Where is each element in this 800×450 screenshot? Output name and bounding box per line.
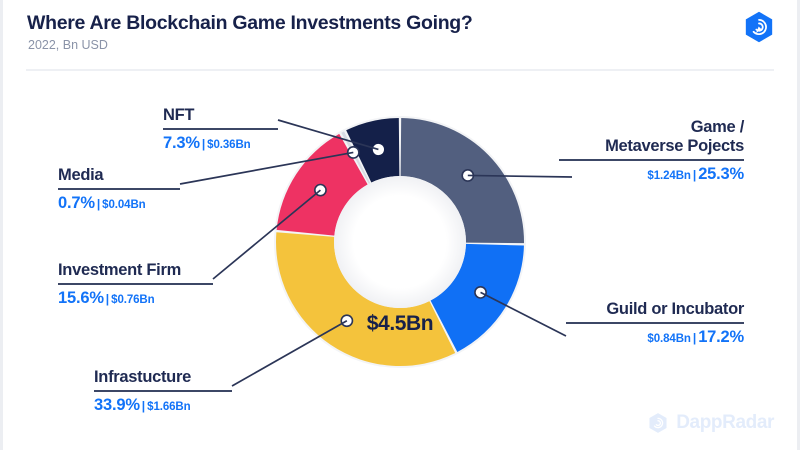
callout-investment-firm-values: 15.6%|$0.76Bn <box>58 289 213 309</box>
leader-line <box>481 292 566 336</box>
callout-infrastructure: Infrastucture 33.9%|$1.66Bn <box>94 368 232 416</box>
callout-media-label: Media <box>58 166 180 185</box>
chart-area: $4.5Bn NFT 7.3%|$0.36Bn Media 0.7%|$0.04… <box>0 62 800 450</box>
callout-nft-label: NFT <box>163 106 278 125</box>
leader-line <box>180 152 353 184</box>
footer-watermark: DappRadar <box>647 412 774 434</box>
dappradar-hexagon-icon <box>647 412 669 434</box>
callout-nft-percent: 7.3% <box>163 134 200 152</box>
page-subtitle: 2022, Bn USD <box>28 38 108 52</box>
callout-game-metaverse-percent: 25.3% <box>698 165 744 183</box>
callout-media-amount: $0.04Bn <box>102 199 145 211</box>
callout-guild-incubator-label: Guild or Incubator <box>566 300 744 319</box>
leader-line <box>213 190 320 279</box>
leader-line <box>468 175 572 177</box>
callout-infrastructure-values: 33.9%|$1.66Bn <box>94 396 232 416</box>
callout-investment-firm-rule <box>58 283 213 285</box>
callout-guild-incubator: Guild or Incubator $0.84Bn|17.2% <box>566 300 744 348</box>
callout-guild-incubator-values: $0.84Bn|17.2% <box>566 328 744 348</box>
callout-investment-firm: Investment Firm 15.6%|$0.76Bn <box>58 261 213 309</box>
callout-nft-amount: $0.36Bn <box>207 139 250 151</box>
callout-media: Media 0.7%|$0.04Bn <box>58 166 180 214</box>
header: Where Are Blockchain Game Investments Go… <box>0 0 800 70</box>
callout-infrastructure-label: Infrastucture <box>94 368 232 387</box>
callout-game-metaverse: Game / Metaverse Pojects $1.24Bn|25.3% <box>559 118 744 185</box>
callout-investment-firm-label: Investment Firm <box>58 261 213 280</box>
callout-game-metaverse-amount: $1.24Bn <box>647 170 690 182</box>
leader-line <box>232 321 347 386</box>
page-title: Where Are Blockchain Game Investments Go… <box>27 12 473 35</box>
callout-game-metaverse-rule <box>559 159 744 161</box>
callout-infrastructure-rule <box>94 390 232 392</box>
callout-media-values: 0.7%|$0.04Bn <box>58 194 180 214</box>
callout-infrastructure-amount: $1.66Bn <box>147 401 190 413</box>
callout-nft-rule <box>163 128 278 130</box>
callout-investment-firm-percent: 15.6% <box>58 289 104 307</box>
callout-nft: NFT 7.3%|$0.36Bn <box>163 106 278 154</box>
callout-game-metaverse-label-line1: Game / <box>559 118 744 137</box>
callout-nft-values: 7.3%|$0.36Bn <box>163 134 278 154</box>
callout-infrastructure-percent: 33.9% <box>94 396 140 414</box>
callout-guild-incubator-rule <box>566 322 744 324</box>
infographic-canvas: Where Are Blockchain Game Investments Go… <box>0 0 800 450</box>
dappradar-hexagon-icon <box>742 10 776 44</box>
callout-guild-incubator-amount: $0.84Bn <box>647 333 690 345</box>
callout-game-metaverse-label-line2: Metaverse Pojects <box>559 137 744 156</box>
callout-guild-incubator-percent: 17.2% <box>698 328 744 346</box>
callout-media-rule <box>58 188 180 190</box>
watermark-label: DappRadar <box>676 412 774 434</box>
callout-media-percent: 0.7% <box>58 194 95 212</box>
callout-game-metaverse-values: $1.24Bn|25.3% <box>559 165 744 185</box>
leader-line <box>278 120 378 149</box>
callout-investment-firm-amount: $0.76Bn <box>111 294 154 306</box>
